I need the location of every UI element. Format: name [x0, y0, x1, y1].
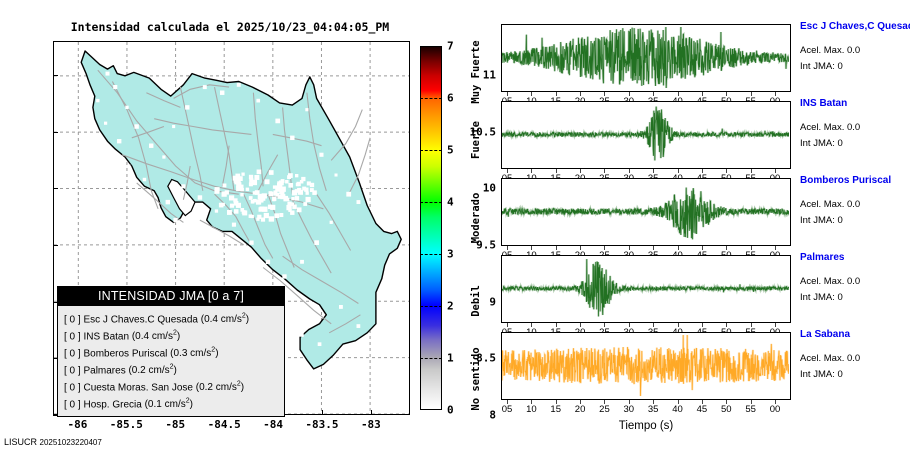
map-lon-tickmark	[371, 410, 372, 415]
seismogram-station-name: INS Batan	[800, 98, 847, 109]
legend-station-name: Esc J Chaves.C Quesada	[81, 314, 198, 325]
legend-station-row: [ 0 ] Bomberos Puriscal (0.3 cm/s2)	[64, 344, 284, 361]
colorbar-tickmark	[420, 306, 442, 308]
colorbar-tick-label: 0	[447, 404, 454, 417]
colorbar-tick-label: 5	[447, 144, 454, 157]
map-lon-tickmark	[322, 410, 323, 415]
seismogram-peak-accel: Acel. Max. 0.0	[800, 353, 860, 364]
legend-station-row: [ 0 ] Esc J Chaves.C Quesada (0.4 cm/s2)	[64, 310, 284, 327]
seismogram-station-name: La Sabana	[800, 329, 850, 340]
seismogram-peak-accel: Acel. Max. 0.0	[800, 199, 860, 210]
seismogram-trace-panel[interactable]	[501, 101, 791, 169]
legend-station-name: INS Batan	[81, 331, 129, 342]
map-lon-tick: -84	[250, 418, 296, 431]
seismogram-trace-panel[interactable]	[501, 24, 791, 92]
legend-station-row: [ 0 ] Palmares (0.2 cm/s2)	[64, 361, 284, 378]
legend-accel-value: (0.4 cm/s2)	[198, 314, 249, 325]
colorbar-tick-label: 3	[447, 248, 454, 261]
seismogram-jma-intensity: Int JMA: 0	[800, 138, 843, 149]
map-lon-tick: -86	[54, 418, 100, 431]
colorbar-tickmark	[420, 98, 442, 100]
seismogram-trace-panel[interactable]	[501, 178, 791, 246]
legend-station-name: Cuesta Moras. San Jose	[81, 382, 193, 393]
legend-accel-value: (0.2 cm/s2)	[193, 382, 244, 393]
seismogram-time-tick: 25	[592, 404, 616, 415]
seismogram-jma-intensity: Int JMA: 0	[800, 292, 843, 303]
legend-station-name: Palmares	[81, 365, 126, 376]
seismogram-jma-intensity: Int JMA: 0	[800, 61, 843, 72]
seismogram-time-tick: 45	[690, 404, 714, 415]
seismogram-station-name: Esc J Chaves,C Quesada	[800, 21, 910, 32]
footer-code: 20251023220407	[40, 438, 102, 447]
seismogram-time-tick: 15	[544, 404, 568, 415]
colorbar-tick-label: 2	[447, 300, 454, 313]
seismogram-time-tick: 05	[495, 404, 519, 415]
legend-accel-value: (0.1 cm/s2)	[142, 399, 193, 410]
map-lon-tick: -83.5	[299, 418, 345, 431]
map-lon-tick: -85.5	[103, 418, 149, 431]
seismogram-station-name: Bomberos Puriscal	[800, 175, 891, 186]
seismogram-trace-panel[interactable]	[501, 332, 791, 400]
seismogram-peak-accel: Acel. Max. 0.0	[800, 45, 860, 56]
page-title: Intensidad calculada el 2025/10/23_04:04…	[0, 20, 460, 34]
map-lon-tick: -83	[348, 418, 394, 431]
colorbar-tick-label: 6	[447, 92, 454, 105]
map-lat-tickmark	[53, 188, 58, 189]
legend-accel-value: (0.2 cm/s2)	[126, 365, 177, 376]
seismogram-time-tick: 30	[617, 404, 641, 415]
legend-header: INTENSIDAD JMA [0 a 7]	[58, 287, 284, 306]
legend-station-name: Bomberos Puriscal	[81, 348, 168, 359]
colorbar-tickmark	[420, 254, 442, 256]
colorbar-tick-label: 1	[447, 352, 454, 365]
colorbar-tick-label: 4	[447, 196, 454, 209]
map-lon-tick: -84.5	[201, 418, 247, 431]
map-lon-tick: -85	[152, 418, 198, 431]
legend-station-name: Hosp. Grecia	[81, 399, 142, 410]
colorbar-category-label: Debil	[470, 285, 482, 317]
colorbar-tickmark	[420, 150, 442, 152]
legend-accel-value: (0.3 cm/s2)	[167, 348, 218, 359]
legend-level: [ 0 ]	[64, 314, 81, 325]
seismogram-peak-accel: Acel. Max. 0.0	[800, 122, 860, 133]
seismogram-jma-intensity: Int JMA: 0	[800, 369, 843, 380]
legend-station-row: [ 0 ] Hosp. Grecia (0.1 cm/s2)	[64, 395, 284, 412]
seismogram-time-tick: 35	[641, 404, 665, 415]
footer-agency: LISUCR	[4, 437, 37, 447]
map-lat-tickmark	[53, 75, 58, 76]
legend-station-row: [ 0 ] INS Batan (0.4 cm/s2)	[64, 327, 284, 344]
legend-station-row: [ 0 ] Cuesta Moras. San Jose (0.2 cm/s2)	[64, 378, 284, 395]
legend-level: [ 0 ]	[64, 399, 81, 410]
seismogram-station-name: Palmares	[800, 252, 844, 263]
seismogram-jma-intensity: Int JMA: 0	[800, 215, 843, 226]
map-lat-tickmark	[53, 132, 58, 133]
seismogram-time-tick: 20	[568, 404, 592, 415]
seismogram-time-tick: 40	[666, 404, 690, 415]
footer-credit: LISUCR 20251023220407	[4, 437, 102, 447]
legend-level: [ 0 ]	[64, 331, 81, 342]
legend-level: [ 0 ]	[64, 382, 81, 393]
colorbar-category-label: Moderado	[470, 192, 482, 243]
seismogram-trace-panel[interactable]	[501, 255, 791, 323]
legend-accel-value: (0.4 cm/s2)	[129, 331, 180, 342]
seismogram-time-tick: 00	[763, 404, 787, 415]
colorbar-tickmark	[420, 202, 442, 204]
time-axis-label: Tiempo (s)	[501, 420, 791, 432]
seismogram-time-tick: 10	[519, 404, 543, 415]
colorbar-tick-label: 7	[447, 40, 454, 53]
seismogram-time-tick: 55	[739, 404, 763, 415]
intensity-legend: INTENSIDAD JMA [0 a 7] [ 0 ] Esc J Chave…	[57, 286, 285, 417]
colorbar-category-label: No sentido	[470, 347, 482, 410]
legend-level: [ 0 ]	[64, 348, 81, 359]
colorbar-category-label: Fuerte	[470, 121, 482, 159]
colorbar-tickmark	[420, 358, 442, 360]
legend-level: [ 0 ]	[64, 365, 81, 376]
colorbar-category-label: Muy Fuerte	[470, 40, 482, 103]
intensity-colorbar	[420, 46, 442, 410]
seismogram-time-tick: 50	[714, 404, 738, 415]
map-lat-tickmark	[53, 245, 58, 246]
legend-station-list: [ 0 ] Esc J Chaves.C Quesada (0.4 cm/s2)…	[58, 306, 284, 416]
seismogram-peak-accel: Acel. Max. 0.0	[800, 276, 860, 287]
